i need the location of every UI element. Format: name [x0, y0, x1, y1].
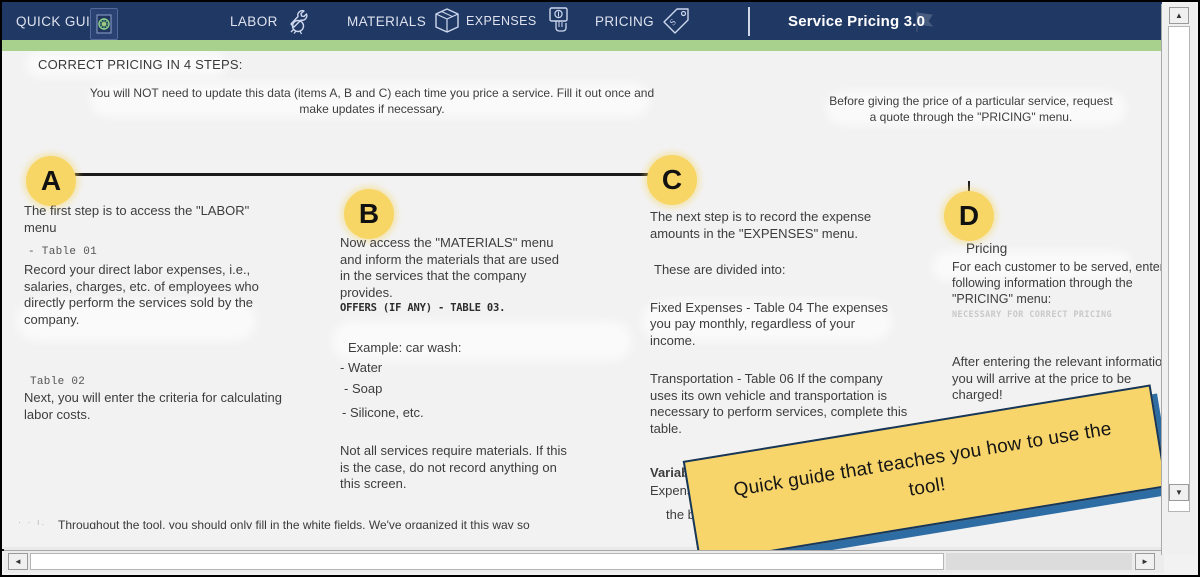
right-intro-text: Before giving the price of a particular … [826, 93, 1116, 125]
wrench-hand-icon [284, 6, 314, 36]
horizontal-scrollbar[interactable]: ◄ ► [4, 550, 1164, 573]
step-d-line-0: Pricing [966, 241, 1162, 256]
page-title: CORRECT PRICING IN 4 STEPS: [38, 57, 243, 72]
step-b-line-5: - Silicone, etc. [342, 405, 572, 422]
step-b-line-4: - Soap [344, 381, 572, 398]
horizontal-scrollbar-track[interactable] [946, 553, 1132, 570]
step-a-line-2: Record your direct labor expenses, i.e.,… [24, 262, 284, 328]
scroll-right-icon[interactable]: ► [1135, 553, 1155, 570]
step-a-line-3: Table 02 [30, 376, 284, 388]
scroll-down-icon[interactable]: ▼ [1169, 484, 1189, 501]
horizontal-scrollbar-thumb[interactable] [30, 553, 944, 570]
step-badge-b: B [344, 189, 394, 239]
footnote-text: Throughout the tool, you should only fil… [58, 518, 530, 529]
manual-book-icon[interactable] [90, 8, 118, 40]
step-a-line-0: The first step is to access the "LABOR" … [24, 203, 284, 236]
ribbon-divider [748, 7, 750, 36]
app-title: Service Pricing 3.0 [788, 13, 925, 30]
svg-text:S: S [667, 17, 678, 28]
menu-item-pricing[interactable]: PRICING S [595, 2, 692, 40]
decorative-specks: · · ı. [18, 517, 54, 529]
flag-ghost-icon [912, 10, 938, 34]
vertical-scrollbar[interactable]: ▲ ▼ [1161, 4, 1196, 555]
scroll-left-icon[interactable]: ◄ [8, 553, 28, 570]
step-b-line-3: - Water [340, 360, 572, 377]
step-b-line-0: Now access the "MATERIALS" menu and info… [340, 235, 572, 301]
menu-item-materials-label: MATERIALS [347, 14, 426, 29]
application-window: QUICK GUIDE LABOR MATERIALS [0, 0, 1200, 577]
menu-item-expenses[interactable]: EXPENSES [466, 2, 575, 40]
menu-item-labor[interactable]: LABOR [230, 2, 314, 40]
menu-item-materials[interactable]: MATERIALS [347, 2, 462, 40]
menu-item-labor-label: LABOR [230, 14, 278, 29]
scroll-up-icon[interactable]: ▲ [1169, 7, 1189, 24]
step-a-line-4: Next, you will enter the criteria for ca… [24, 390, 284, 423]
price-tag-icon: S [660, 5, 692, 37]
step-c-line-2: Fixed Expenses - Table 04 The expenses y… [650, 300, 890, 350]
step-badge-a: A [26, 156, 76, 206]
step-b-line-2: Example: car wash: [348, 340, 572, 357]
step-b-line-1: OFFERS (IF ANY) - TABLE 03. [340, 302, 572, 314]
step-c-line-3: Transportation - Table 06 If the company… [650, 371, 912, 437]
top-ribbon: QUICK GUIDE LABOR MATERIALS [2, 2, 1162, 40]
box-icon [432, 6, 462, 36]
step-c-line-1: These are divided into: [654, 262, 898, 279]
intro-text: You will NOT need to update this data (i… [82, 85, 662, 117]
vertical-scrollbar-track[interactable] [1168, 26, 1190, 512]
step-d-line-1: For each customer to be served, enter th… [952, 259, 1162, 307]
step-badge-c: C [647, 155, 697, 205]
menu-item-expenses-label: EXPENSES [466, 14, 537, 28]
step-badge-d: D [944, 191, 994, 241]
step-a-line-1: - Table 01 [28, 246, 284, 258]
step-b-line-6: Not all services require materials. If t… [340, 443, 572, 493]
menu-item-pricing-label: PRICING [595, 14, 654, 29]
step-c-line-0: The next step is to record the expense a… [650, 209, 898, 242]
hand-coin-icon [543, 5, 575, 37]
step-d-line-2: NECESSARY FOR CORRECT PRICING [952, 310, 1162, 320]
